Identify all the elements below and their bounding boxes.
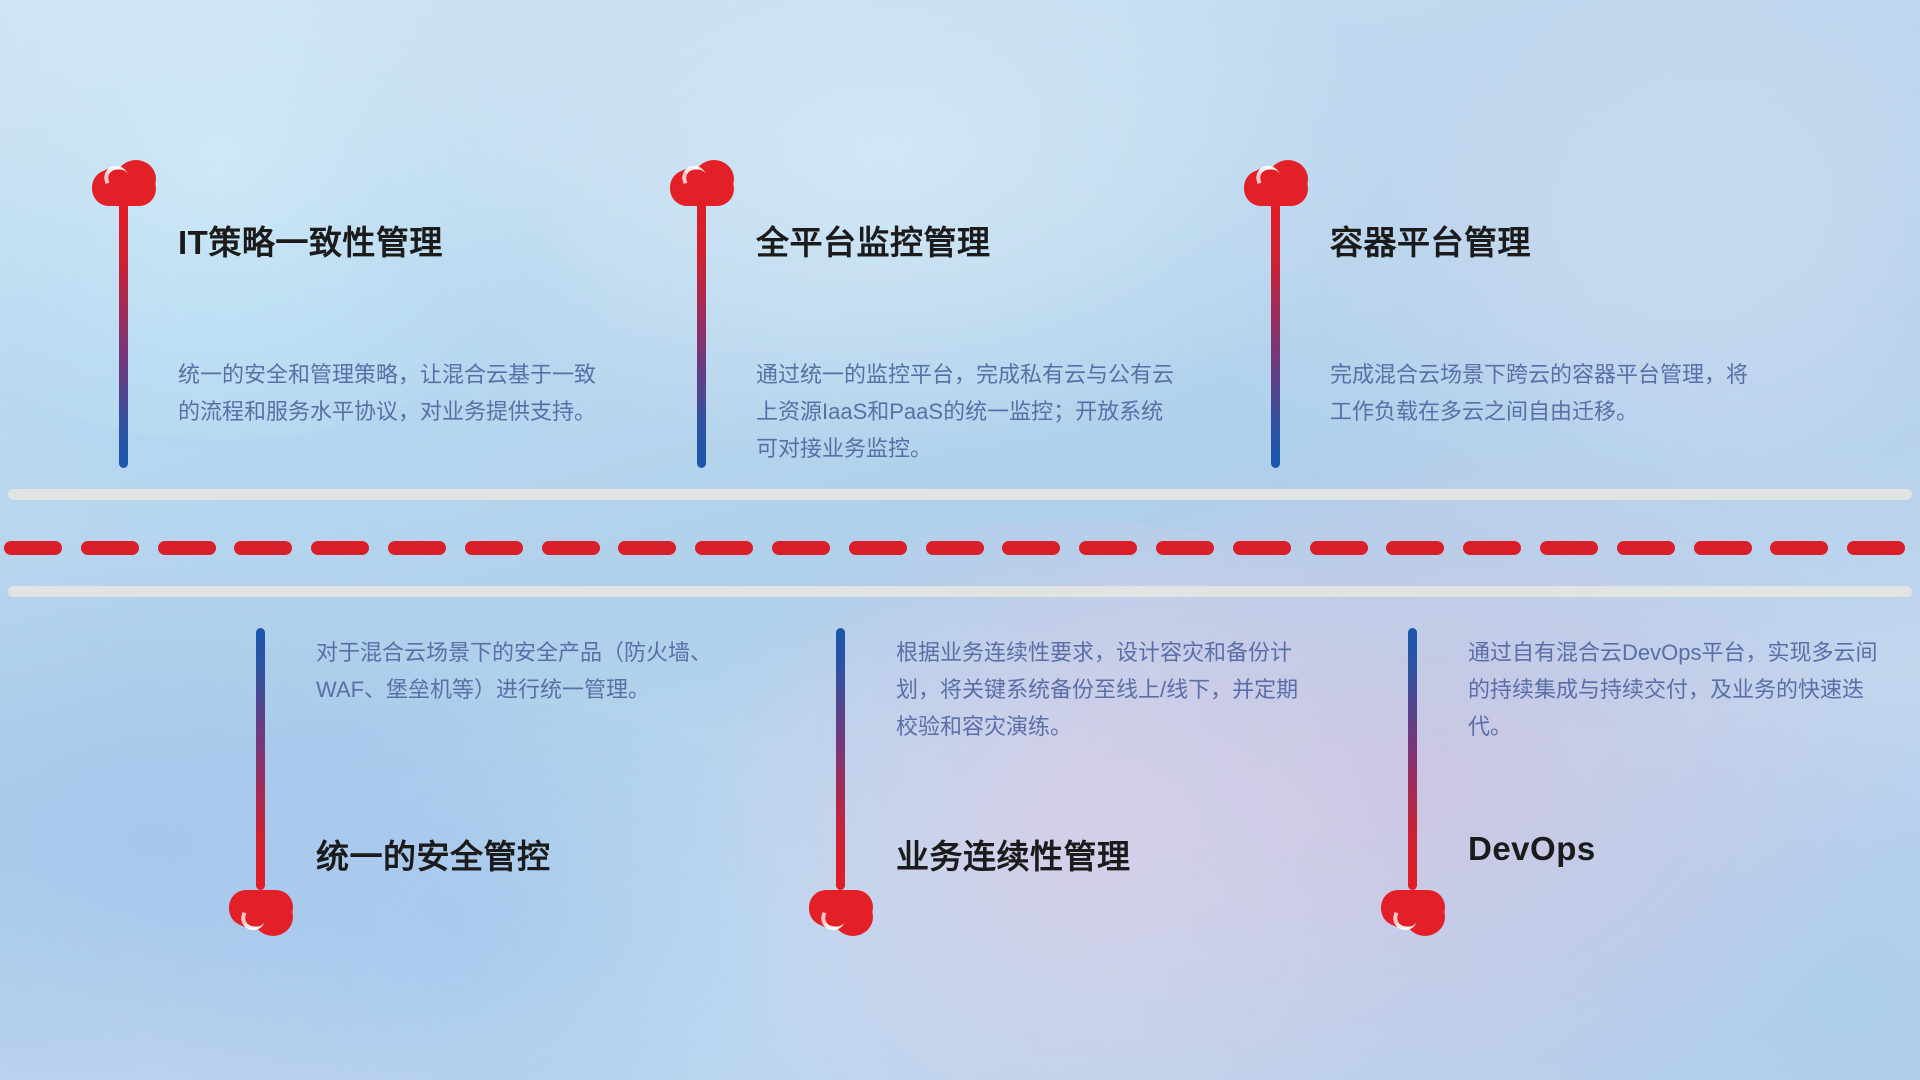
timeline-divider (0, 541, 1920, 555)
divider-dash (1156, 541, 1214, 555)
stem-connector (256, 628, 265, 890)
divider-dash (695, 541, 753, 555)
divider-dash (1002, 541, 1060, 555)
divider-dash (1540, 541, 1598, 555)
stem-connector (697, 200, 706, 468)
cloud-icon (1381, 890, 1445, 936)
background-glow-bottom-left (60, 700, 860, 1080)
divider-rule-lower (8, 586, 1912, 597)
divider-dash (158, 541, 216, 555)
top-item-2-desc: 通过统一的监控平台，完成私有云与公有云上资源IaaS和PaaS的统一监控；开放系… (756, 356, 1176, 467)
background-glow-bottom-center (620, 520, 1520, 1080)
cloud-icon (809, 890, 873, 936)
stem-connector (1271, 200, 1280, 468)
divider-dash (926, 541, 984, 555)
divider-dash (849, 541, 907, 555)
divider-dash (1463, 541, 1521, 555)
top-item-2-title: 全平台监控管理 (756, 216, 991, 264)
divider-dash (1079, 541, 1137, 555)
divider-dash (1386, 541, 1444, 555)
bottom-item-3-desc: 通过自有混合云DevOps平台，实现多云间的持续集成与持续交付，及业务的快速迭代… (1468, 634, 1888, 745)
stem-connector (1408, 628, 1417, 890)
infographic-canvas: IT策略一致性管理 统一的安全和管理策略，让混合云基于一致的流程和服务水平协议，… (0, 0, 1920, 1080)
top-item-3-title: 容器平台管理 (1330, 216, 1531, 264)
bottom-item-1-desc: 对于混合云场景下的安全产品（防火墙、WAF、堡垒机等）进行统一管理。 (316, 634, 736, 708)
bottom-item-2-desc: 根据业务连续性要求，设计容灾和备份计划，将关键系统备份至线上/线下，并定期校验和… (896, 634, 1316, 745)
divider-dash (1847, 541, 1905, 555)
divider-dash (1694, 541, 1752, 555)
stem-connector (836, 628, 845, 890)
divider-dash (772, 541, 830, 555)
divider-dash (1310, 541, 1368, 555)
divider-dash (1617, 541, 1675, 555)
divider-rule-upper (8, 489, 1912, 500)
bottom-item-2-title: 业务连续性管理 (896, 830, 1131, 878)
divider-dash (465, 541, 523, 555)
top-item-1-title: IT策略一致性管理 (178, 216, 443, 264)
bottom-item-3-title: DevOps (1468, 830, 1596, 868)
cloud-icon (229, 890, 293, 936)
divider-dash (388, 541, 446, 555)
top-item-3-desc: 完成混合云场景下跨云的容器平台管理，将工作负载在多云之间自由迁移。 (1330, 356, 1750, 430)
divider-dash (618, 541, 676, 555)
divider-dash (311, 541, 369, 555)
divider-dash (234, 541, 292, 555)
bottom-item-1-title: 统一的安全管控 (316, 830, 551, 878)
top-item-1-desc: 统一的安全和管理策略，让混合云基于一致的流程和服务水平协议，对业务提供支持。 (178, 356, 598, 430)
divider-dash (4, 541, 62, 555)
divider-dash (1233, 541, 1291, 555)
divider-dash (81, 541, 139, 555)
divider-dash (1770, 541, 1828, 555)
divider-dash (542, 541, 600, 555)
stem-connector (119, 200, 128, 468)
